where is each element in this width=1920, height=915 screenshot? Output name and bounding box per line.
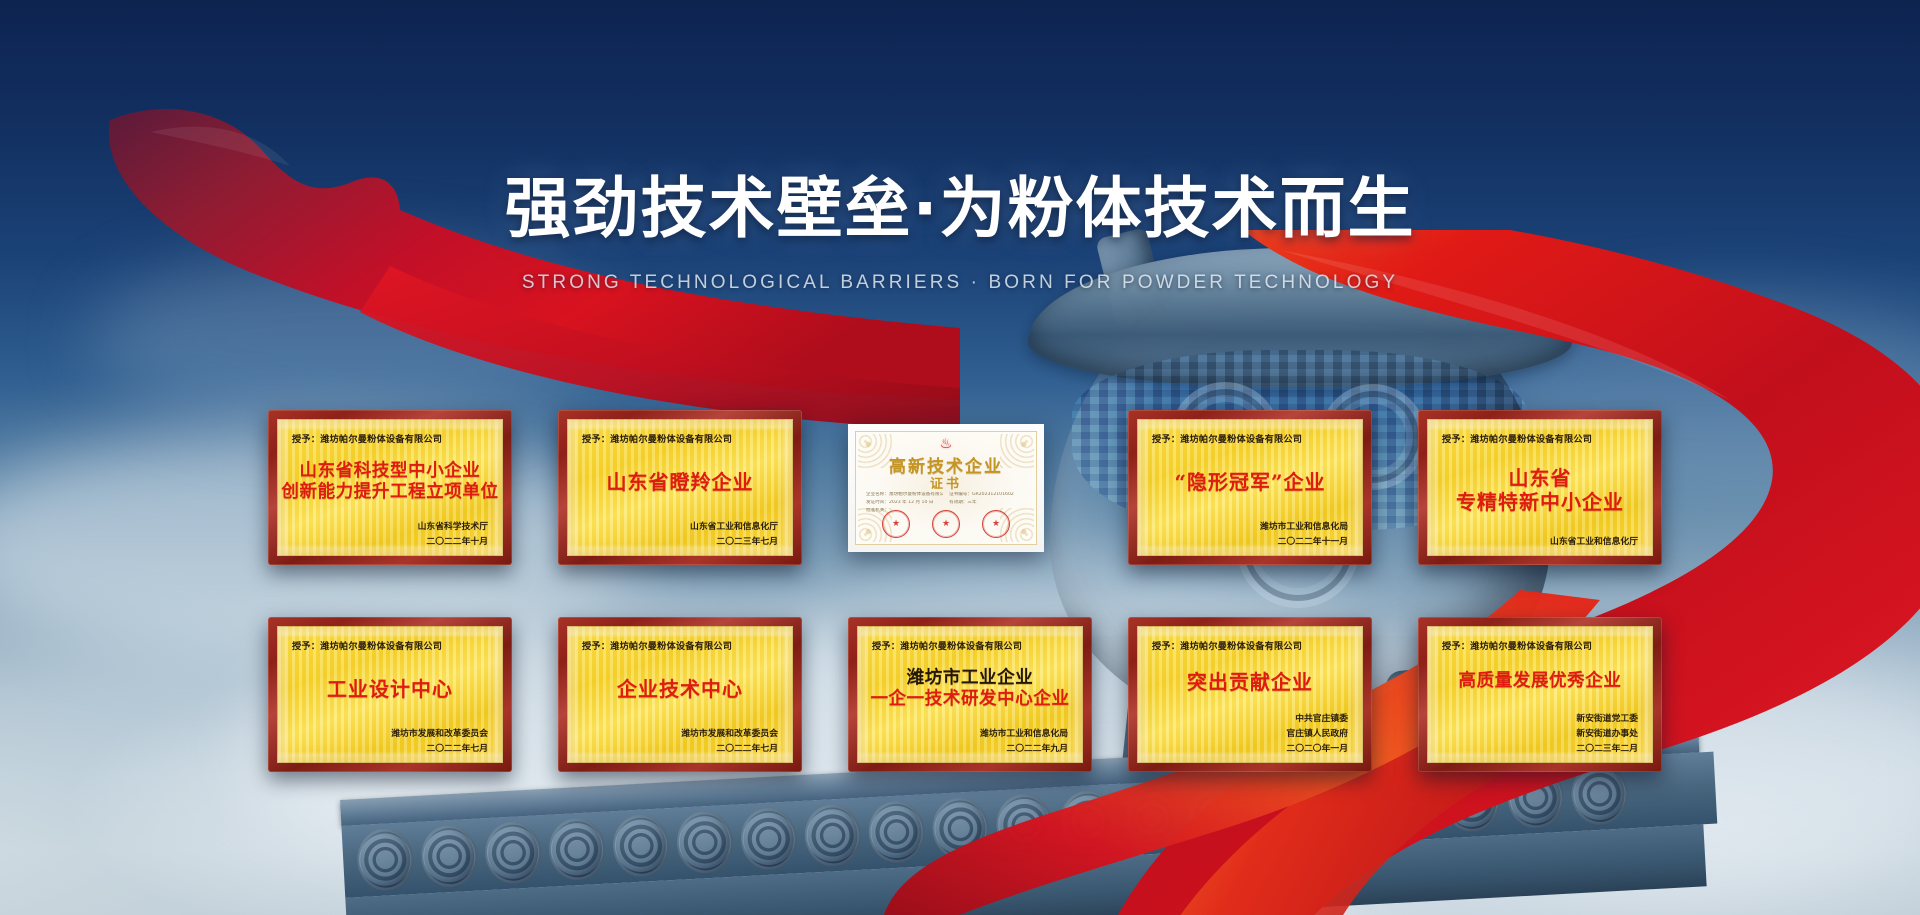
certificate-field: 发证时间：2023 年 12 月 10 日 xyxy=(866,500,943,507)
plaque-title: 山东省 xyxy=(1509,467,1572,490)
flame-logo-icon: ♨ xyxy=(940,437,953,451)
plaque-awardee: 授予：潍坊帕尔曼粉体设备有限公司 xyxy=(1152,638,1348,652)
plaque-awardee: 授予：潍坊帕尔曼粉体设备有限公司 xyxy=(582,638,778,652)
award-plaque[interactable]: 授予：潍坊帕尔曼粉体设备有限公司潍坊市工业企业一企一技术研发中心企业潍坊市工业和… xyxy=(848,617,1092,772)
plaque-footer: 山东省科学技术厅二〇二二年十月 xyxy=(292,519,488,547)
plaque-title: 专精特新中小企业 xyxy=(1456,491,1624,514)
plaque-footer: 山东省工业和信息化厅二〇二三年七月 xyxy=(582,519,778,547)
high-tech-enterprise-certificate[interactable]: ♨高新技术企业证书企业名称：潍坊帕尔曼粉体设备有限公司证书编号：GR202312… xyxy=(848,424,1044,552)
plaque-date: 二〇二三年二月 xyxy=(1576,741,1638,754)
plaque-issuer: 新安街道党工委 xyxy=(1576,711,1638,724)
plaque-date: 二〇二二年九月 xyxy=(1006,741,1068,754)
plaque-face: 授予：潍坊帕尔曼粉体设备有限公司“隐形冠军”企业潍坊市工业和信息化局二〇二二年十… xyxy=(1137,419,1363,556)
award-plaque[interactable]: 授予：潍坊帕尔曼粉体设备有限公司突出贡献企业中共官庄镇委官庄镇人民政府二〇二〇年… xyxy=(1128,617,1372,772)
plaque-issuer-2: 官庄镇人民政府 xyxy=(1286,726,1348,739)
plaque-awardee: 授予：潍坊帕尔曼粉体设备有限公司 xyxy=(872,638,1068,652)
plaque-issuer-2: 新安街道办事处 xyxy=(1576,726,1638,739)
certificate-field: 有效期：三年 xyxy=(949,500,1026,507)
plaque-title: 一企一技术研发中心企业 xyxy=(870,690,1069,710)
award-plaque[interactable]: 授予：潍坊帕尔曼粉体设备有限公司山东省瞪羚企业山东省工业和信息化厅二〇二三年七月 xyxy=(558,410,802,565)
plaque-awardee: 授予：潍坊帕尔曼粉体设备有限公司 xyxy=(1152,431,1348,445)
plaque-title: 高质量发展优秀企业 xyxy=(1459,672,1622,692)
plaque-title: 创新能力提升工程立项单位 xyxy=(281,483,498,503)
plaque-title-group: 山东省科技型中小企业创新能力提升工程立项单位 xyxy=(292,446,488,519)
plaque-title: 突出贡献企业 xyxy=(1187,671,1313,694)
plaque-footer: 潍坊市发展和改革委员会二〇二二年七月 xyxy=(582,726,778,754)
plaque-title-group: 山东省专精特新中小企业 xyxy=(1442,446,1638,534)
plaque-issuer: 山东省科学技术厅 xyxy=(418,519,488,532)
award-plaque[interactable]: 授予：潍坊帕尔曼粉体设备有限公司高质量发展优秀企业新安街道党工委新安街道办事处二… xyxy=(1418,617,1662,772)
award-plaque[interactable]: 授予：潍坊帕尔曼粉体设备有限公司山东省专精特新中小企业山东省工业和信息化厅 xyxy=(1418,410,1662,565)
seal-2-icon: ★ xyxy=(932,510,960,538)
plaque-title: “隐形冠军”企业 xyxy=(1174,471,1325,494)
plaque-face: 授予：潍坊帕尔曼粉体设备有限公司突出贡献企业中共官庄镇委官庄镇人民政府二〇二〇年… xyxy=(1137,626,1363,763)
certificate-subtitle: 证书 xyxy=(856,473,1036,492)
plaque-issuer: 潍坊市发展和改革委员会 xyxy=(681,726,778,739)
plaque-issuer: 山东省工业和信息化厅 xyxy=(1550,534,1638,547)
plaque-face: 授予：潍坊帕尔曼粉体设备有限公司山东省科技型中小企业创新能力提升工程立项单位山东… xyxy=(277,419,503,556)
plaque-face: 授予：潍坊帕尔曼粉体设备有限公司山东省瞪羚企业山东省工业和信息化厅二〇二三年七月 xyxy=(567,419,793,556)
plaque-title-group: 突出贡献企业 xyxy=(1152,653,1348,711)
page-subtitle: STRONG TECHNOLOGICAL BARRIERS · BORN FOR… xyxy=(0,272,1920,294)
plaque-awardee: 授予：潍坊帕尔曼粉体设备有限公司 xyxy=(1442,431,1638,445)
plaque-title: 工业设计中心 xyxy=(327,678,453,701)
plaque-issuer: 潍坊市发展和改革委员会 xyxy=(391,726,488,739)
certificate-seals: ★★★ xyxy=(856,510,1036,538)
plaque-awardee: 授予：潍坊帕尔曼粉体设备有限公司 xyxy=(292,638,488,652)
plaque-footer: 中共官庄镇委官庄镇人民政府二〇二〇年一月 xyxy=(1152,711,1348,754)
plaque-footer: 山东省工业和信息化厅 xyxy=(1442,534,1638,547)
banner-stage: 强劲技术壁垒·为粉体技术而生 STRONG TECHNOLOGICAL BARR… xyxy=(0,0,1920,915)
seal-1-icon: ★ xyxy=(882,510,910,538)
plaque-title-group: 潍坊市工业企业一企一技术研发中心企业 xyxy=(872,653,1068,726)
plaque-issuer: 中共官庄镇委 xyxy=(1295,711,1348,724)
plaque-title: 山东省瞪羚企业 xyxy=(607,471,754,494)
plaque-face: 授予：潍坊帕尔曼粉体设备有限公司潍坊市工业企业一企一技术研发中心企业潍坊市工业和… xyxy=(857,626,1083,763)
plaque-title-group: 工业设计中心 xyxy=(292,653,488,726)
plaque-date: 二〇二三年七月 xyxy=(716,534,778,547)
plaque-date: 二〇二二年七月 xyxy=(716,741,778,754)
plaque-awardee: 授予：潍坊帕尔曼粉体设备有限公司 xyxy=(582,431,778,445)
plaque-face: 授予：潍坊帕尔曼粉体设备有限公司企业技术中心潍坊市发展和改革委员会二〇二二年七月 xyxy=(567,626,793,763)
page-title: 强劲技术壁垒·为粉体技术而生 xyxy=(0,155,1920,251)
plaque-footer: 潍坊市发展和改革委员会二〇二二年七月 xyxy=(292,726,488,754)
plaque-issuer: 潍坊市工业和信息化局 xyxy=(980,726,1068,739)
plaque-title-group: 高质量发展优秀企业 xyxy=(1442,653,1638,711)
plaque-date: 二〇二〇年一月 xyxy=(1286,741,1348,754)
certificate-field: 证书编号：GR202312101602 xyxy=(949,492,1026,499)
plaque-date: 二〇二二年十一月 xyxy=(1278,534,1348,547)
certificate-field: 企业名称：潍坊帕尔曼粉体设备有限公司 xyxy=(866,492,943,499)
plaque-title-group: 企业技术中心 xyxy=(582,653,778,726)
plaque-awardee: 授予：潍坊帕尔曼粉体设备有限公司 xyxy=(292,431,488,445)
seal-3-icon: ★ xyxy=(982,510,1010,538)
plaque-footer: 潍坊市工业和信息化局二〇二二年十一月 xyxy=(1152,519,1348,547)
plaque-issuer: 山东省工业和信息化厅 xyxy=(690,519,778,532)
plaque-title-group: 山东省瞪羚企业 xyxy=(582,446,778,519)
plaque-title: 企业技术中心 xyxy=(617,678,743,701)
certificate-face: ♨高新技术企业证书企业名称：潍坊帕尔曼粉体设备有限公司证书编号：GR202312… xyxy=(855,431,1037,545)
award-plaque[interactable]: 授予：潍坊帕尔曼粉体设备有限公司企业技术中心潍坊市发展和改革委员会二〇二二年七月 xyxy=(558,617,802,772)
plaque-date: 二〇二二年十月 xyxy=(426,534,488,547)
award-plaque[interactable]: 授予：潍坊帕尔曼粉体设备有限公司工业设计中心潍坊市发展和改革委员会二〇二二年七月 xyxy=(268,617,512,772)
plaque-title: 潍坊市工业企业 xyxy=(907,669,1034,689)
plaque-title-group: “隐形冠军”企业 xyxy=(1152,446,1348,519)
award-plaque[interactable]: 授予：潍坊帕尔曼粉体设备有限公司山东省科技型中小企业创新能力提升工程立项单位山东… xyxy=(268,410,512,565)
plaque-title: 山东省科技型中小企业 xyxy=(300,462,481,482)
plaque-date: 二〇二二年七月 xyxy=(426,741,488,754)
plaque-face: 授予：潍坊帕尔曼粉体设备有限公司山东省专精特新中小企业山东省工业和信息化厅 xyxy=(1427,419,1653,556)
award-plaque[interactable]: 授予：潍坊帕尔曼粉体设备有限公司“隐形冠军”企业潍坊市工业和信息化局二〇二二年十… xyxy=(1128,410,1372,565)
plaque-issuer: 潍坊市工业和信息化局 xyxy=(1260,519,1348,532)
plaque-face: 授予：潍坊帕尔曼粉体设备有限公司工业设计中心潍坊市发展和改革委员会二〇二二年七月 xyxy=(277,626,503,763)
plaque-face: 授予：潍坊帕尔曼粉体设备有限公司高质量发展优秀企业新安街道党工委新安街道办事处二… xyxy=(1427,626,1653,763)
plaque-awardee: 授予：潍坊帕尔曼粉体设备有限公司 xyxy=(1442,638,1638,652)
plaque-footer: 潍坊市工业和信息化局二〇二二年九月 xyxy=(872,726,1068,754)
plaque-footer: 新安街道党工委新安街道办事处二〇二三年二月 xyxy=(1442,711,1638,754)
